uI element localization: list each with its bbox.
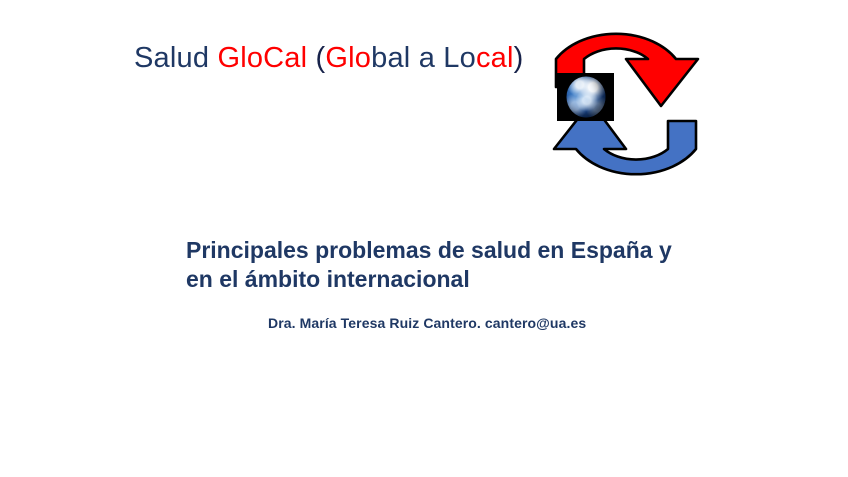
slide-subtitle: Principales problemas de salud en España…: [186, 236, 666, 295]
title-segment-glo: Glo: [325, 42, 371, 74]
title-segment-cal: cal: [476, 42, 514, 74]
subtitle-line-1: Principales problemas de salud en España…: [186, 236, 666, 265]
page-title: Salud GloCal (Global a Local): [134, 42, 523, 75]
title-segment-close-paren: ): [514, 42, 524, 74]
title-segment-bal-a-lo: bal a Lo: [371, 42, 476, 74]
title-segment-glocal: GloCal: [217, 42, 307, 74]
title-segment-salud: Salud: [134, 42, 217, 74]
slide-canvas: Salud GloCal (Global a Local) Principale…: [0, 0, 848, 477]
author-credit: Dra. María Teresa Ruiz Cantero. cantero@…: [268, 315, 586, 331]
title-segment-open-paren: (: [307, 42, 325, 74]
earth-image-frame: [557, 73, 614, 121]
earth-globe-icon: [566, 77, 605, 118]
subtitle-line-2: en el ámbito internacional: [186, 265, 666, 294]
